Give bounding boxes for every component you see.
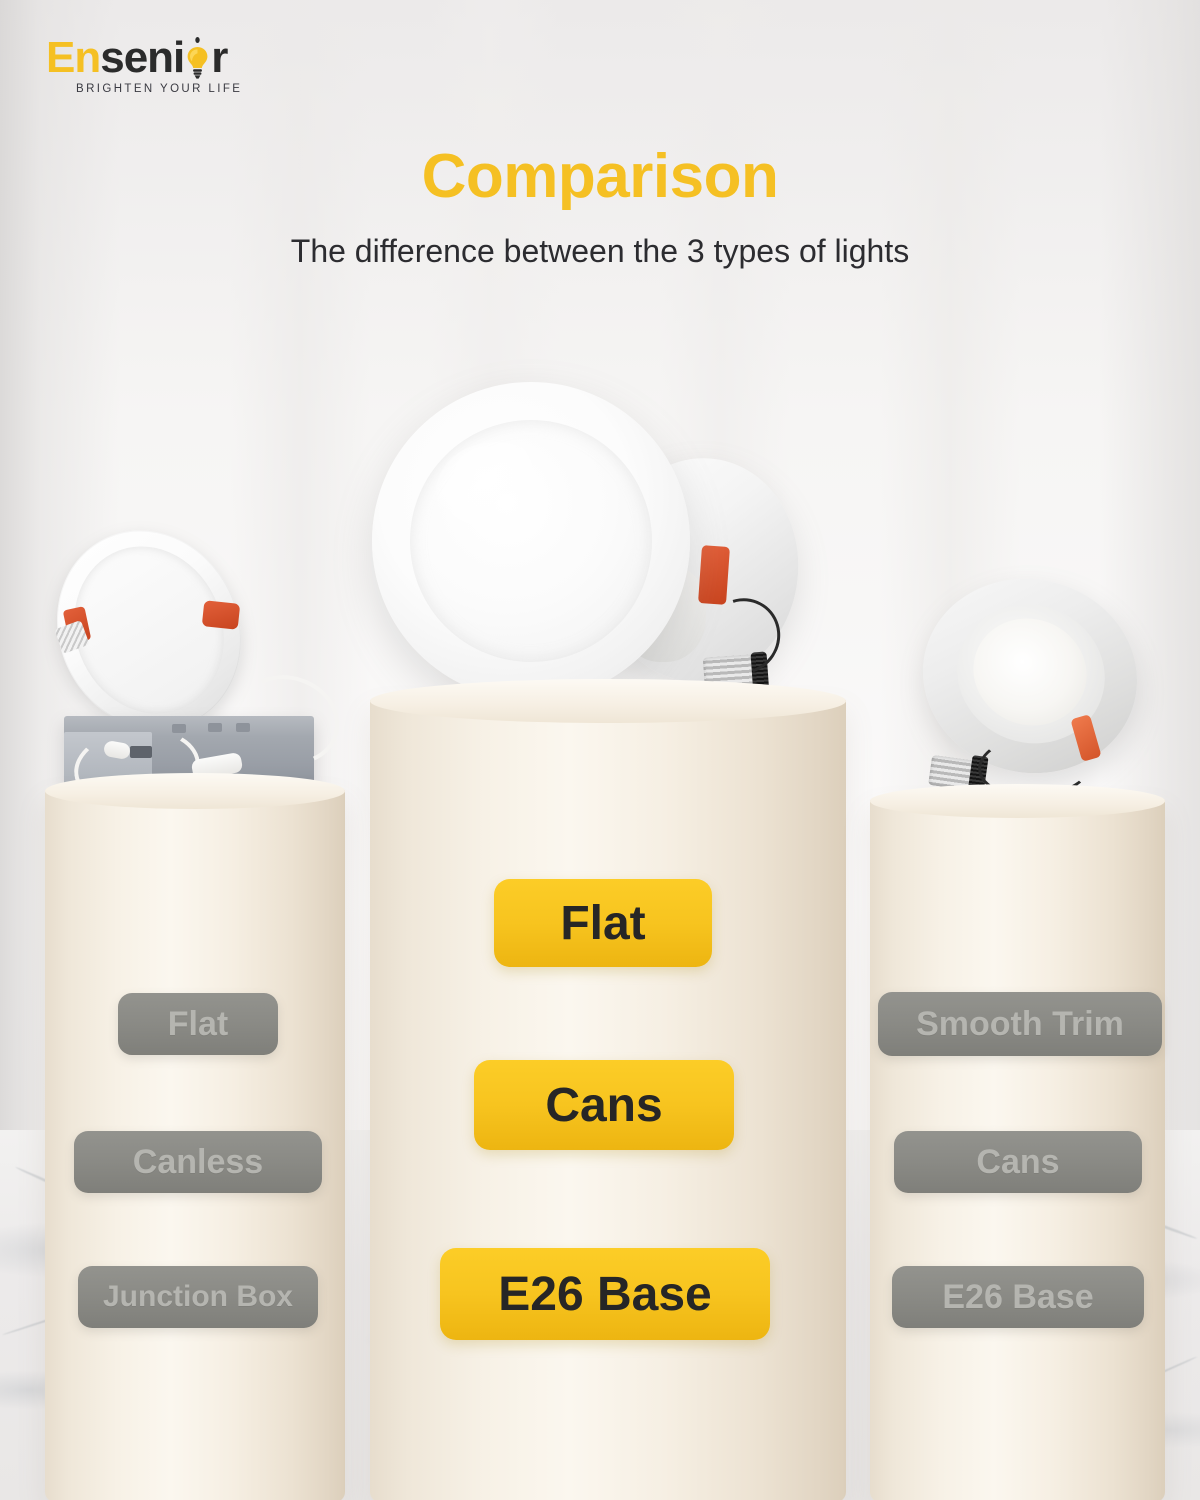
product-image-right (900, 566, 1160, 820)
product-image-center (370, 380, 810, 720)
label-left-0-text: Flat (168, 1005, 228, 1044)
brand-tagline: BRIGHTEN YOUR LIFE (76, 83, 242, 95)
label-center-0-text: Flat (560, 896, 645, 951)
label-right-2: E26 Base (892, 1266, 1144, 1328)
spring-clip-right (202, 600, 241, 630)
brand-name-part1: En (46, 33, 100, 82)
label-left-1: Canless (74, 1131, 322, 1193)
label-left-2-text: Junction Box (103, 1280, 293, 1314)
page-title: Comparison (0, 146, 1200, 208)
label-right-1: Cans (894, 1131, 1142, 1193)
junction-box-knockout-1 (172, 724, 186, 733)
label-left-0: Flat (118, 993, 278, 1055)
label-center-2: E26 Base (440, 1248, 770, 1340)
brand-logo: Enseni r BRIGHTEN YOUR LIFE (46, 36, 296, 102)
brand-wordmark: Enseni r (46, 36, 296, 80)
label-right-0: Smooth Trim (878, 992, 1162, 1056)
label-left-2: Junction Box (78, 1266, 318, 1328)
lightbulb-icon (184, 36, 211, 80)
diffuser-highlight (436, 442, 556, 542)
pedestal-right-top (870, 784, 1165, 818)
label-right-2-text: E26 Base (942, 1278, 1093, 1317)
label-center-1: Cans (474, 1060, 734, 1150)
spring-clip-center (698, 545, 730, 605)
page-subtitle: The difference between the 3 types of li… (0, 232, 1200, 270)
label-center-2-text: E26 Base (498, 1267, 712, 1322)
label-left-1-text: Canless (133, 1143, 263, 1182)
label-center-0: Flat (494, 879, 712, 967)
pedestal-center-top (370, 679, 846, 723)
label-center-1-text: Cans (545, 1078, 662, 1133)
label-right-1-text: Cans (976, 1143, 1059, 1182)
brand-name-part3: r (211, 33, 227, 82)
junction-box-knockout-2 (208, 723, 222, 732)
pedestal-left-top (45, 773, 345, 809)
comparison-infographic: Enseni r BRIGHTEN YOUR LIFE Comparison T… (0, 0, 1200, 1500)
brand-name-part2: seni (100, 33, 184, 82)
label-right-0-text: Smooth Trim (916, 1005, 1124, 1044)
